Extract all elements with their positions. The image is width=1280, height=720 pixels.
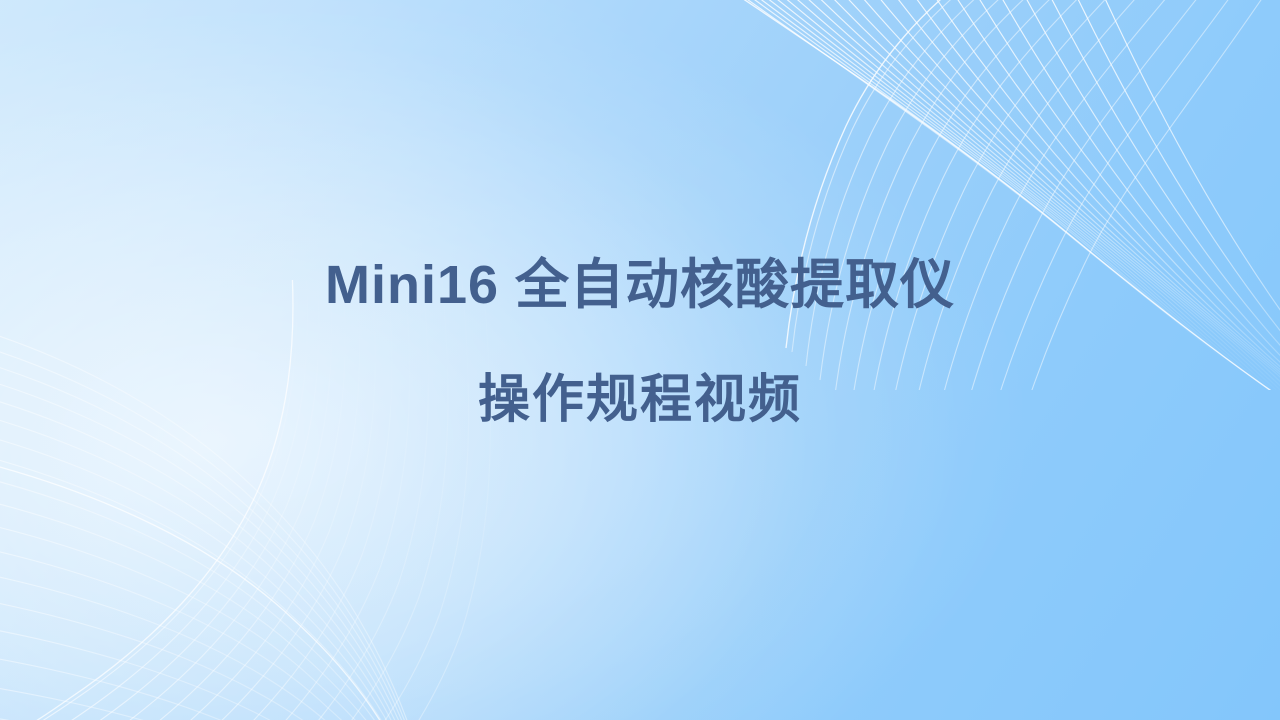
page-title: Mini16 全自动核酸提取仪 bbox=[0, 252, 1280, 318]
page-subtitle: 操作规程视频 bbox=[0, 318, 1280, 432]
title-slide: Mini16 全自动核酸提取仪 操作规程视频 bbox=[0, 0, 1280, 720]
title-block: Mini16 全自动核酸提取仪 操作规程视频 bbox=[0, 252, 1280, 432]
